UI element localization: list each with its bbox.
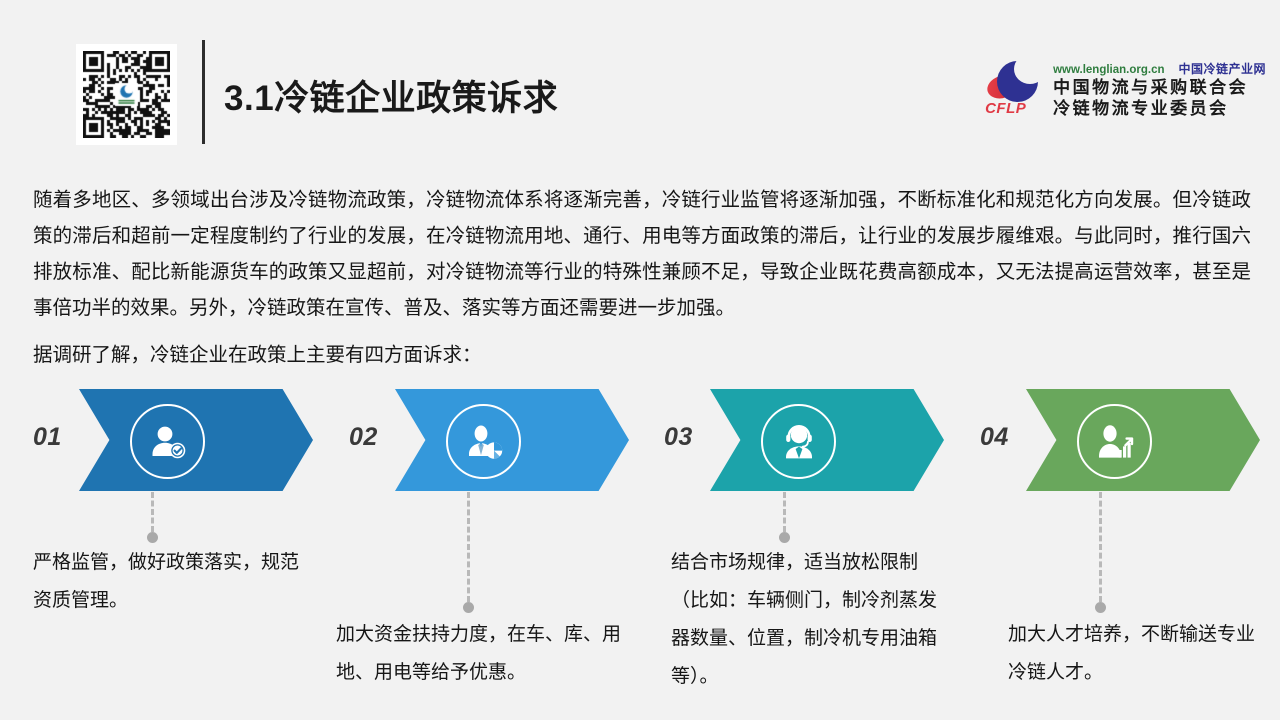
step-caption-02: 加大资金扶持力度，在车、库、用地、用电等给予优惠。 <box>336 616 636 692</box>
qr-code-image <box>83 51 170 138</box>
user-growth-icon <box>1077 404 1152 479</box>
connector-line-03 <box>783 492 786 532</box>
step-item-01[interactable]: 01 <box>33 389 313 491</box>
connector-dot-02 <box>463 602 474 613</box>
connector-01 <box>151 492 154 532</box>
step-caption-03: 结合市场规律，适当放松限制（比如：车辆侧门，制冷剂蒸发器数量、位置，制冷机专用油… <box>671 544 943 696</box>
step-chevron-02[interactable] <box>395 389 629 491</box>
cflp-logo-mark: CFLP <box>985 60 1047 118</box>
logo-url: www.lenglian.org.cn <box>1053 64 1164 76</box>
connector-dot-03 <box>779 532 790 543</box>
connector-dot-04 <box>1095 602 1106 613</box>
logo-committee-name: 冷链物流专业委员会 <box>1053 99 1266 119</box>
step-number-01: 01 <box>33 423 62 452</box>
businessman-chart-icon <box>446 404 521 479</box>
step-chevron-03[interactable] <box>710 389 944 491</box>
step-number-04: 04 <box>980 423 1009 452</box>
connector-dot-01 <box>147 532 158 543</box>
logo-globe-cut <box>1014 54 1046 84</box>
steps-row: 01 02 <box>0 389 1280 491</box>
page-title: 3.1冷链企业政策诉求 <box>224 70 558 121</box>
qr-code <box>76 44 177 145</box>
logo-cflp-text: CFLP <box>985 100 1026 117</box>
logo-org-name: 中国物流与采购联合会 <box>1053 78 1266 98</box>
step-chevron-04[interactable] <box>1026 389 1260 491</box>
step-chevron-01[interactable] <box>79 389 313 491</box>
user-check-icon <box>130 404 205 479</box>
connector-02 <box>467 492 470 602</box>
support-headset-icon <box>761 404 836 479</box>
connector-03 <box>783 492 786 532</box>
cflp-logo: CFLP www.lenglian.org.cn 中国冷链产业网 中国物流与采购… <box>985 60 1266 118</box>
connector-line-02 <box>467 492 470 602</box>
step-number-03: 03 <box>664 423 693 452</box>
step-item-02[interactable]: 02 <box>349 389 629 491</box>
connector-line-04 <box>1099 492 1102 602</box>
title-divider <box>202 40 205 144</box>
step-caption-04: 加大人才培养，不断输送专业冷链人才。 <box>1008 616 1256 692</box>
connector-04 <box>1099 492 1102 602</box>
slide-canvas: 3.1冷链企业政策诉求 CFLP www.lenglian.org.cn 中国冷… <box>0 0 1280 720</box>
body-paragraph: 随着多地区、多领域出台涉及冷链物流政策，冷链物流体系将逐渐完善，冷链行业监管将逐… <box>33 182 1251 326</box>
connector-line-01 <box>151 492 154 532</box>
step-item-03[interactable]: 03 <box>664 389 944 491</box>
logo-site-name: 中国冷链产业网 <box>1178 60 1266 77</box>
logo-row-top: www.lenglian.org.cn 中国冷链产业网 <box>1053 60 1266 77</box>
step-item-04[interactable]: 04 <box>980 389 1260 491</box>
step-caption-01: 严格监管，做好政策落实，规范资质管理。 <box>33 544 311 620</box>
lead-in-text: 据调研了解，冷链企业在政策上主要有四方面诉求： <box>33 337 933 373</box>
logo-text-block: www.lenglian.org.cn 中国冷链产业网 中国物流与采购联合会 冷… <box>1053 60 1266 118</box>
step-number-02: 02 <box>349 423 378 452</box>
